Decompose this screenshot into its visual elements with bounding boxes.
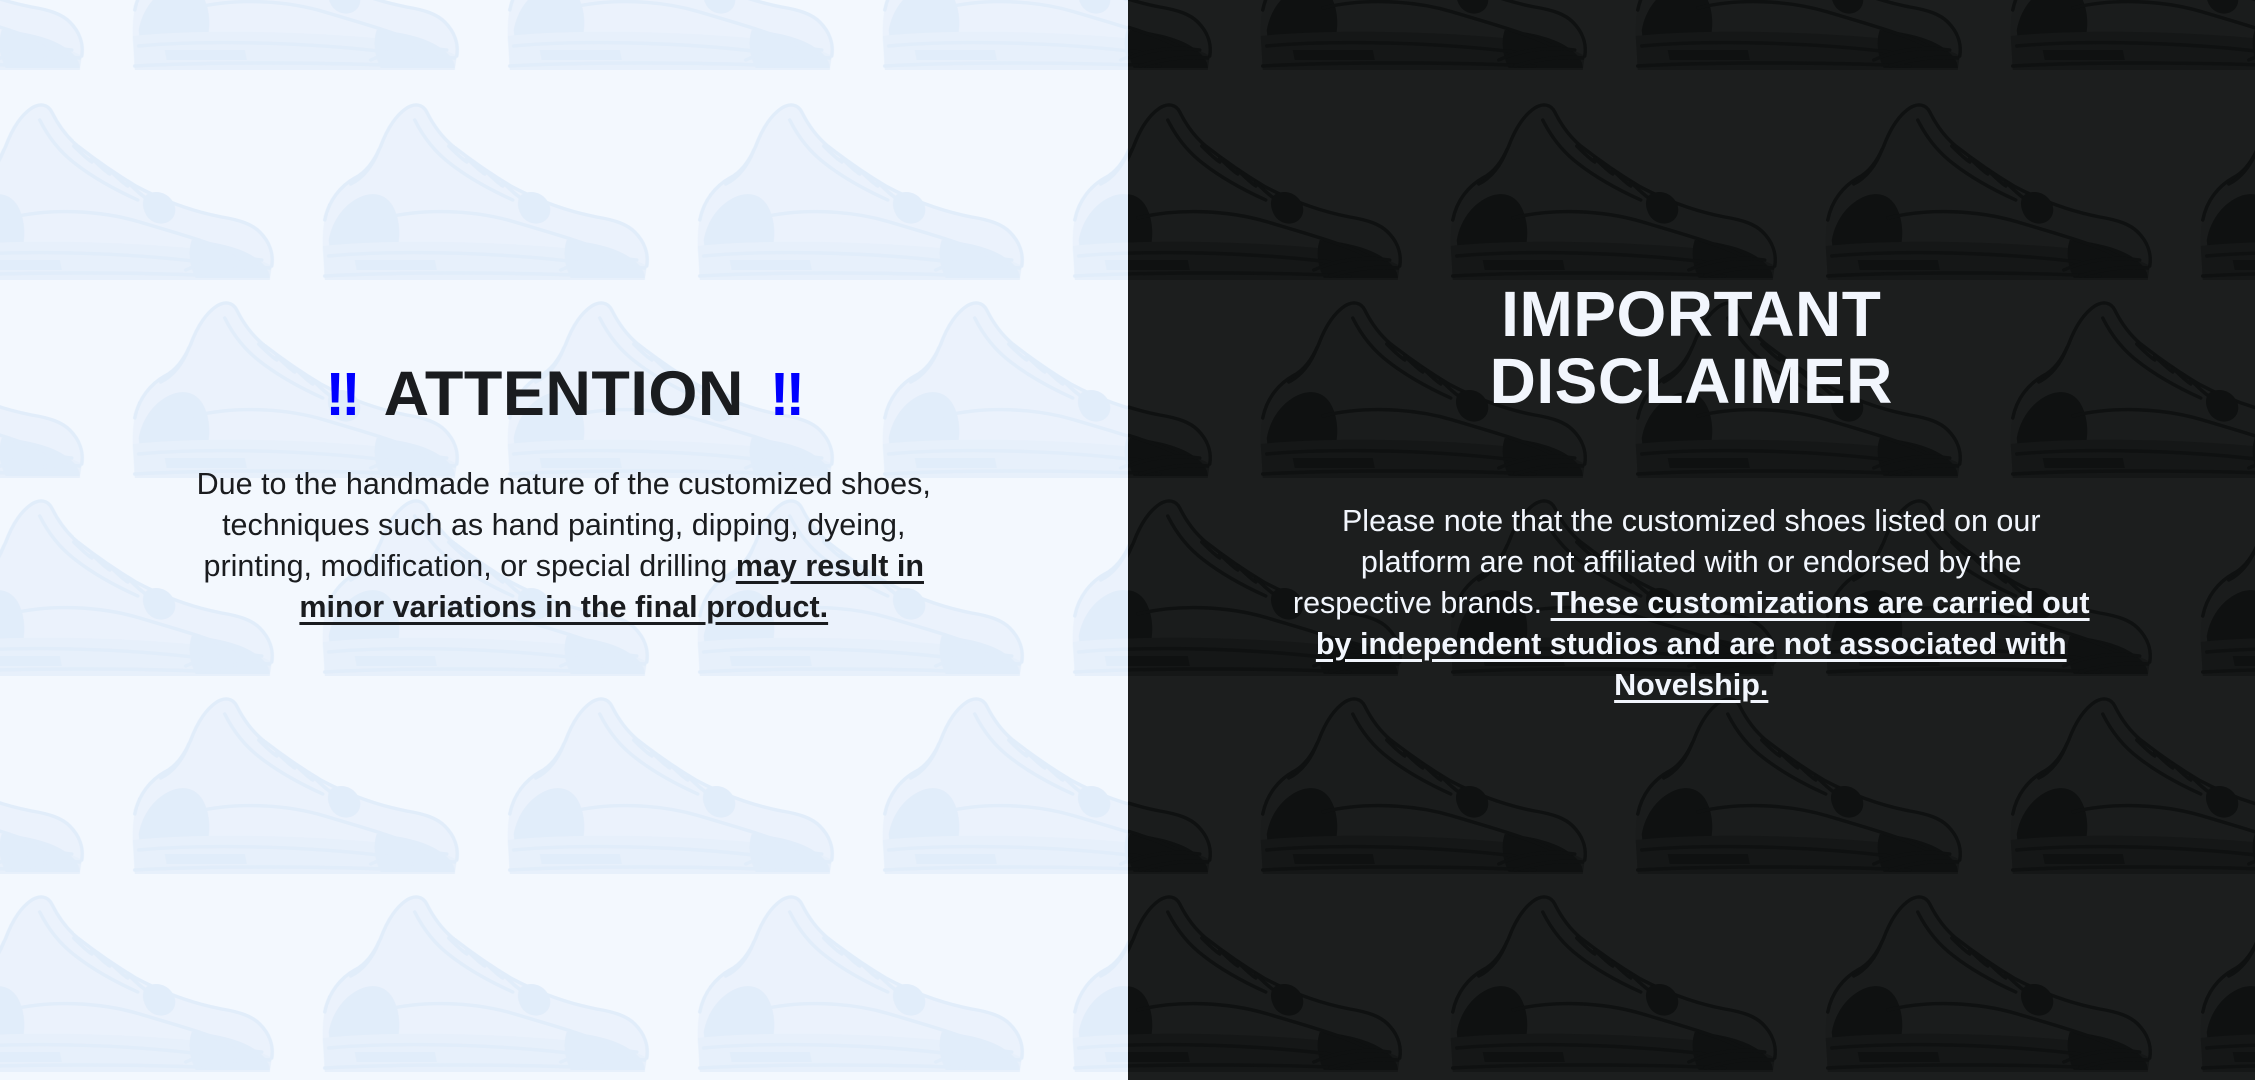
disclaimer-body: Please note that the customized shoes li… [1291, 501, 2091, 705]
attention-body: Due to the handmade nature of the custom… [169, 464, 959, 627]
attention-panel: ‼ ATTENTION ‼ Due to the handmade nature… [0, 0, 1128, 1080]
disclaimer-heading-line2: DISCLAIMER [1490, 348, 1893, 415]
disclaimer-heading-line1: IMPORTANT [1490, 281, 1893, 348]
disclaimer-content: IMPORTANT DISCLAIMER Please note that th… [1128, 0, 2255, 736]
attention-heading: ‼ ATTENTION ‼ [326, 363, 802, 426]
double-exclamation-left-icon: ‼ [326, 364, 358, 425]
disclaimer-heading: IMPORTANT DISCLAIMER [1490, 281, 1893, 414]
double-exclamation-right-icon: ‼ [770, 364, 802, 425]
disclaimer-panel: IMPORTANT DISCLAIMER Please note that th… [1128, 0, 2255, 1080]
attention-content: ‼ ATTENTION ‼ Due to the handmade nature… [0, 0, 1128, 658]
attention-title: ATTENTION [384, 363, 744, 426]
attention-disclaimer-banner: ‼ ATTENTION ‼ Due to the handmade nature… [0, 0, 2255, 1080]
